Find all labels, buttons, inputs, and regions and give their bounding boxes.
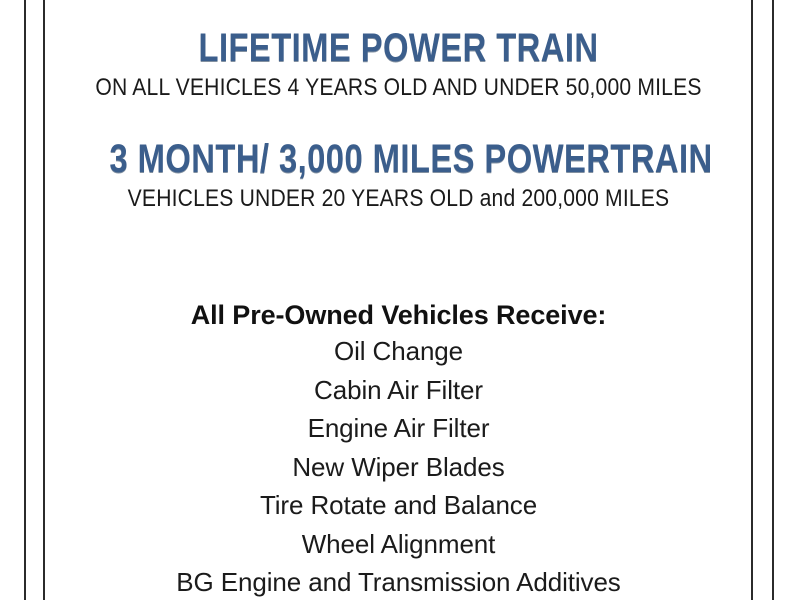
- offer-subhead-3month-powertrain: VEHICLES UNDER 20 YEARS OLD and 200,000 …: [88, 185, 708, 213]
- service-list-item: Engine Air Filter: [46, 409, 751, 448]
- offer-block-lifetime-powertrain: LIFETIME POWER TRAIN ON ALL VEHICLES 4 Y…: [46, 26, 751, 102]
- services-title: All Pre-Owned Vehicles Receive:: [46, 298, 751, 332]
- service-list-item: Cabin Air Filter: [46, 371, 751, 410]
- flyer-page: LIFETIME POWER TRAIN ON ALL VEHICLES 4 Y…: [0, 0, 800, 600]
- service-list-item: New Wiper Blades: [46, 448, 751, 487]
- service-list-item: Tire Rotate and Balance: [46, 486, 751, 525]
- services-section: All Pre-Owned Vehicles Receive: Oil Chan…: [46, 298, 751, 600]
- service-list-item: BG Engine and Transmission Additives: [46, 563, 751, 600]
- offer-block-3month-powertrain: 3 MONTH/ 3,000 MILES POWERTRAIN VEHICLES…: [46, 137, 751, 213]
- border-rule-right-inner: [751, 0, 753, 600]
- offer-headline-3month-powertrain: 3 MONTH/ 3,000 MILES POWERTRAIN: [109, 137, 687, 181]
- flyer-content: LIFETIME POWER TRAIN ON ALL VEHICLES 4 Y…: [46, 0, 751, 600]
- offer-subhead-lifetime-powertrain: ON ALL VEHICLES 4 YEARS OLD AND UNDER 50…: [88, 74, 708, 102]
- border-rule-left-outer: [24, 0, 26, 600]
- service-list-item: Wheel Alignment: [46, 525, 751, 564]
- border-rule-left-inner: [43, 0, 45, 600]
- service-list-item: Oil Change: [46, 332, 751, 371]
- border-rule-right-outer: [772, 0, 774, 600]
- offer-headline-lifetime-powertrain: LIFETIME POWER TRAIN: [109, 26, 687, 70]
